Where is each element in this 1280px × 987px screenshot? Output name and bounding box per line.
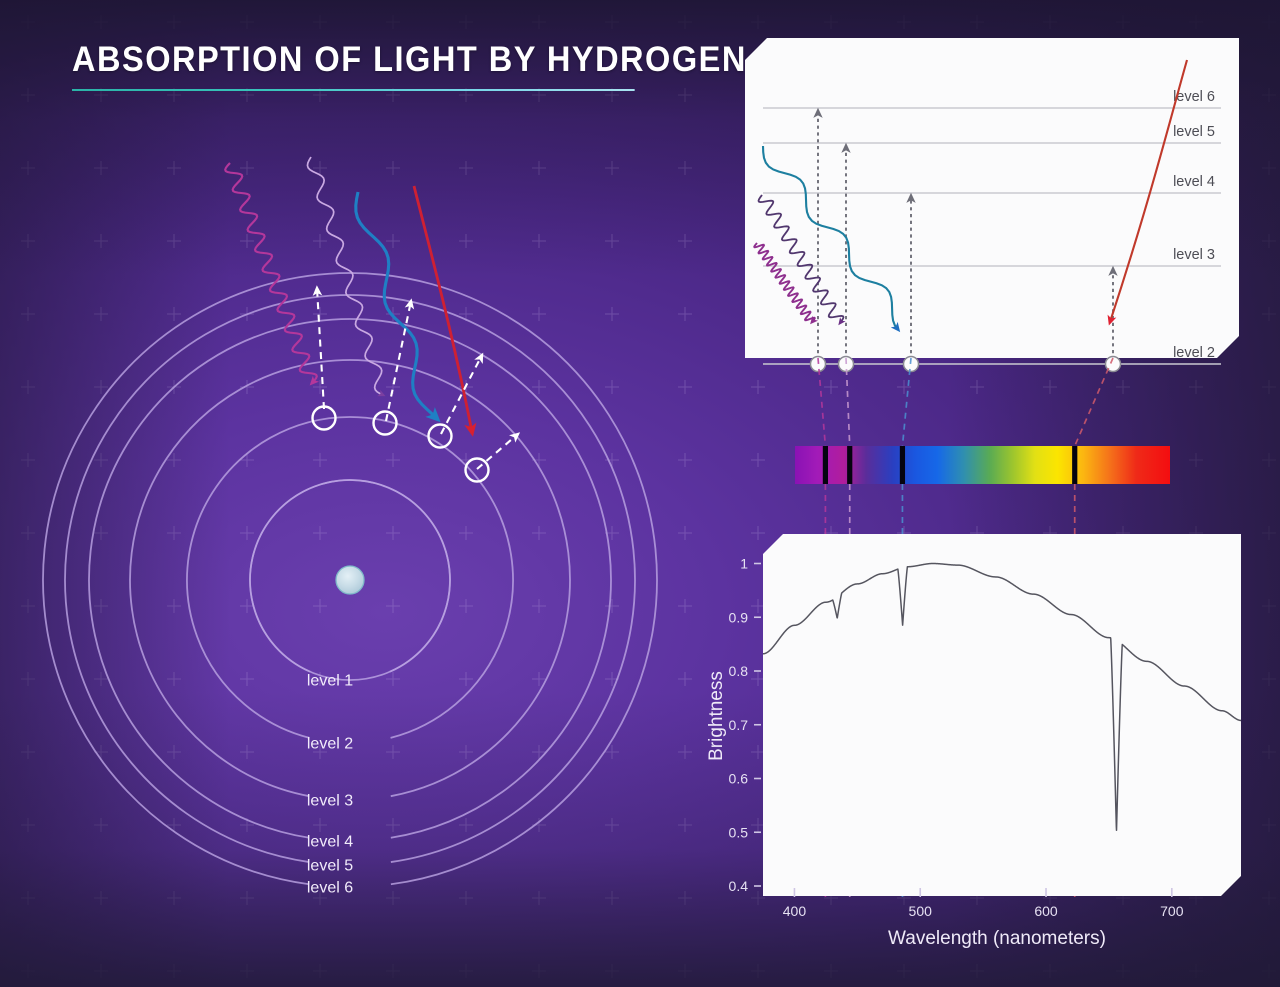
x-tick-label-1: 500: [909, 903, 933, 919]
y-axis-title: Brightness: [706, 671, 727, 761]
y-tick-label-4: 0.8: [729, 663, 749, 679]
y-tick-label-2: 0.6: [729, 771, 749, 787]
y-tick-label-0: 0.4: [729, 878, 749, 894]
y-tick-label-3: 0.7: [729, 717, 749, 733]
x-tick-label-2: 600: [1034, 903, 1058, 919]
y-tick-label-5: 0.9: [729, 609, 749, 625]
x-axis-title: Wavelength (nanometers): [888, 928, 1106, 949]
y-tick-label-6: 1: [740, 556, 748, 572]
brightness-curve: [763, 564, 1241, 831]
infographic-root: ABSORPTION OF LIGHT BY HYDROGEN: [0, 0, 1280, 987]
brightness-chart: 0.40.50.60.70.80.91400500600700 Waveleng…: [0, 0, 1280, 987]
y-tick-label-1: 0.5: [729, 824, 749, 840]
x-tick-label-3: 700: [1160, 903, 1184, 919]
x-tick-label-0: 400: [783, 903, 807, 919]
